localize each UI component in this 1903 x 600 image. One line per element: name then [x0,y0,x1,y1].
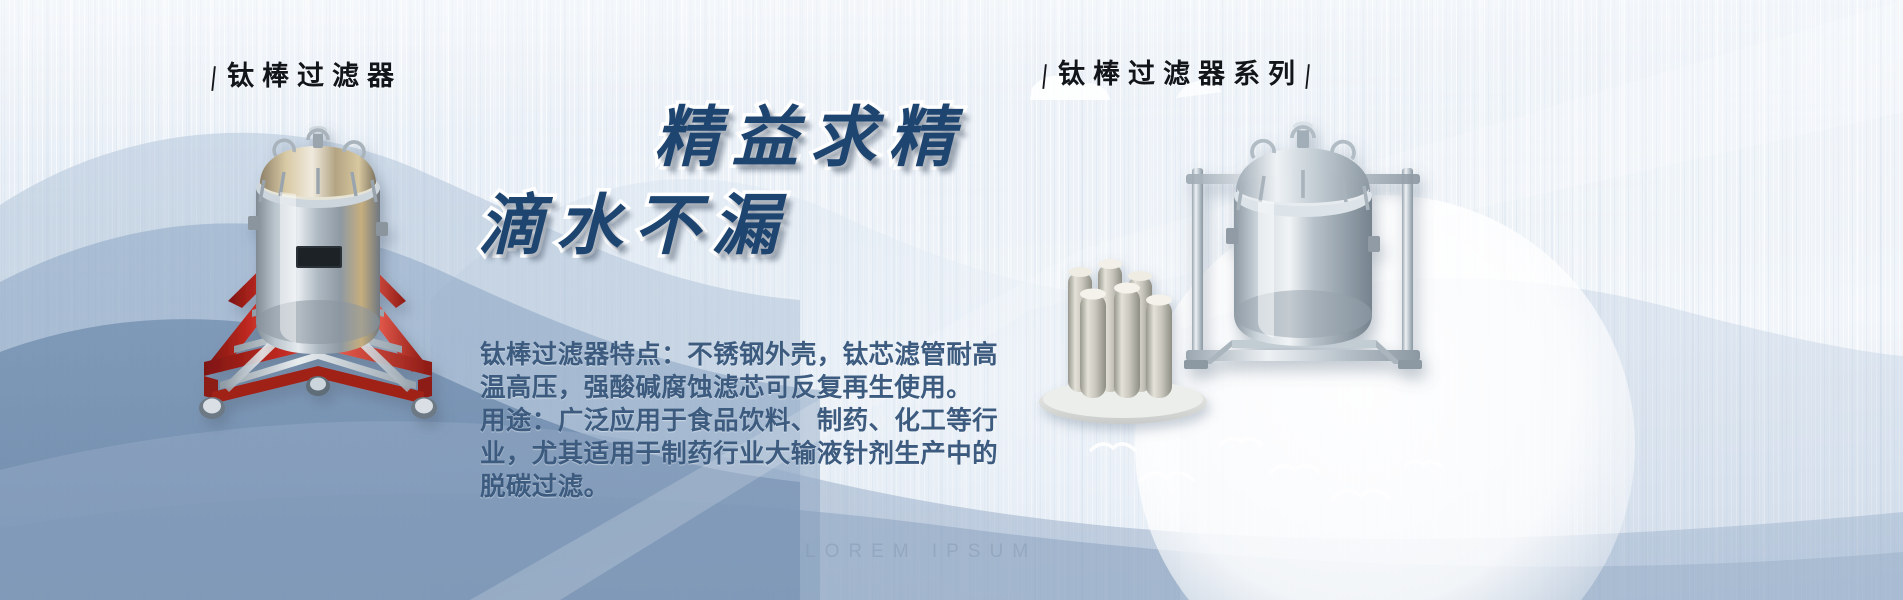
left-product-image [168,96,468,426]
description-line-4: 业，尤其适用于制药行业大输液针剂生产中的 [480,437,1000,470]
tag-left: |钛棒过滤器 [209,54,402,93]
titanium-rod-filter-on-red-cart-svg [168,96,468,426]
filter-cartridges-image [1028,250,1218,435]
tag-right-label: 钛棒过滤器系列 [1058,59,1303,89]
tag-right-bar-right-icon: | [1301,59,1322,90]
tag-left-label: 钛棒过滤器 [227,61,402,91]
description-block: 钛棒过滤器特点：不锈钢外壳，钛芯滤管耐高 温高压，强酸碱腐蚀滤芯可反复再生使用。… [480,338,1000,503]
tag-right: |钛棒过滤器系列| [1040,52,1321,91]
promo-banner: |钛棒过滤器 |钛棒过滤器系列| 精益求精 滴水不漏 钛棒过滤器特点：不锈钢外壳… [0,0,1903,600]
description-line-1: 钛棒过滤器特点：不锈钢外壳，钛芯滤管耐高 [480,338,1000,371]
tag-left-bar-icon: | [207,61,228,92]
flying-birds-silhouette-svg [1075,410,1465,520]
description-line-5: 脱碳过滤。 [480,470,1000,503]
watermark-text: LOREM IPSUM [805,541,1037,563]
description-line-3: 用途：广泛应用于食品饮料、制药、化工等行 [480,404,1000,437]
tag-right-bar-left-icon: | [1038,59,1059,90]
birds-decoration [1075,410,1465,520]
description-line-2: 温高压，强酸碱腐蚀滤芯可反复再生使用。 [480,371,1000,404]
ceramic-filter-cartridges-svg [1028,250,1218,435]
